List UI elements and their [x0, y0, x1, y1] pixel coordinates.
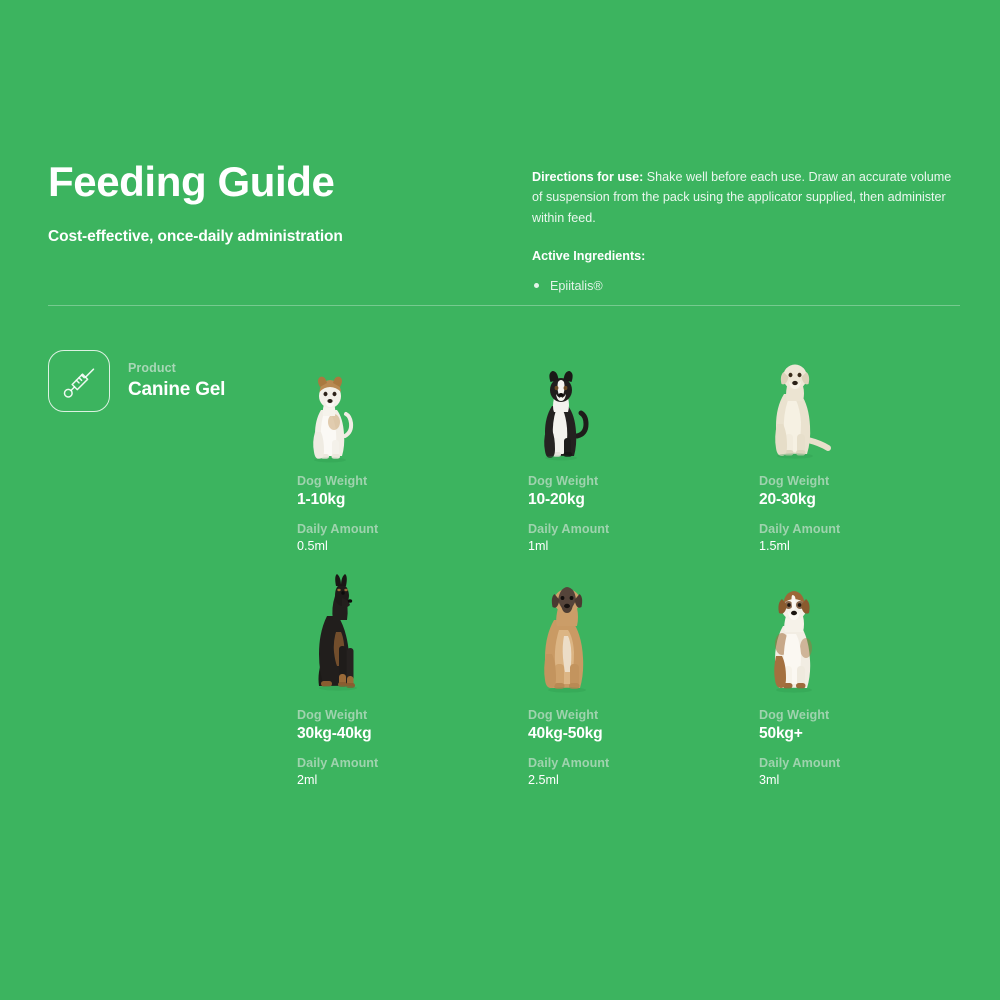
- dog-image-border-collie: [528, 350, 759, 466]
- dog-weight-label: Dog Weight: [528, 708, 759, 722]
- daily-amount-value: 3ml: [759, 773, 990, 787]
- product-label: Product: [128, 361, 225, 375]
- dog-weight-value: 1-10kg: [297, 491, 528, 509]
- dog-image-jack-russell-terrier: [297, 350, 528, 466]
- list-item: Epiitalis®: [532, 277, 952, 296]
- daily-amount-label: Daily Amount: [528, 522, 759, 536]
- dosage-cell: Dog Weight 40kg-50kg Daily Amount 2.5ml: [528, 570, 759, 787]
- dog-image-mastiff: [528, 570, 759, 700]
- page-title: Feeding Guide: [48, 160, 488, 204]
- page-subtitle: Cost-effective, once-daily administratio…: [48, 228, 488, 246]
- syringe-applicator-icon: [48, 350, 110, 412]
- bullet-icon: [534, 283, 539, 288]
- daily-amount-value: 2ml: [297, 773, 528, 787]
- dog-image-yellow-labrador: [759, 350, 990, 466]
- dog-weight-label: Dog Weight: [297, 708, 528, 722]
- dog-weight-value: 10-20kg: [528, 491, 759, 509]
- daily-amount-value: 0.5ml: [297, 539, 528, 553]
- dosage-info: Dog Weight 30kg-40kg Daily Amount 2ml: [297, 708, 528, 787]
- daily-amount-value: 1.5ml: [759, 539, 990, 553]
- product-name: Canine Gel: [128, 379, 225, 401]
- daily-amount-label: Daily Amount: [297, 756, 528, 770]
- ingredient-name: Epiitalis®: [550, 279, 603, 293]
- dog-weight-label: Dog Weight: [759, 708, 990, 722]
- active-ingredients-label: Active Ingredients:: [532, 249, 952, 263]
- daily-amount-value: 2.5ml: [528, 773, 759, 787]
- daily-amount-label: Daily Amount: [528, 756, 759, 770]
- daily-amount-label: Daily Amount: [759, 522, 990, 536]
- dog-weight-label: Dog Weight: [297, 474, 528, 488]
- daily-amount-value: 1ml: [528, 539, 759, 553]
- daily-amount-label: Daily Amount: [759, 756, 990, 770]
- dosage-row: Dog Weight 1-10kg Daily Amount 0.5ml: [297, 350, 960, 553]
- active-ingredients-list: Epiitalis®: [532, 277, 952, 296]
- dosage-info: Dog Weight 40kg-50kg Daily Amount 2.5ml: [528, 708, 759, 787]
- dosage-cell: Dog Weight 10-20kg Daily Amount 1ml: [528, 350, 759, 553]
- dog-image-st-bernard: [759, 570, 990, 700]
- daily-amount-label: Daily Amount: [297, 522, 528, 536]
- dosage-row: Dog Weight 30kg-40kg Daily Amount 2ml: [297, 570, 960, 787]
- dog-weight-label: Dog Weight: [759, 474, 990, 488]
- directions-label: Directions for use:: [532, 170, 643, 184]
- product-text: Product Canine Gel: [128, 361, 225, 401]
- dog-weight-value: 50kg+: [759, 725, 990, 743]
- feeding-guide-page: Feeding Guide Cost-effective, once-daily…: [0, 0, 1000, 1000]
- section-divider: [48, 305, 960, 306]
- directions-for-use: Directions for use: Shake well before ea…: [532, 167, 952, 228]
- dosage-cell: Dog Weight 30kg-40kg Daily Amount 2ml: [297, 570, 528, 787]
- dog-weight-value: 30kg-40kg: [297, 725, 528, 743]
- header-right: Directions for use: Shake well before ea…: [532, 167, 952, 296]
- dosage-info: Dog Weight 10-20kg Daily Amount 1ml: [528, 474, 759, 553]
- product-block: Product Canine Gel: [48, 350, 225, 412]
- dosage-info: Dog Weight 50kg+ Daily Amount 3ml: [759, 708, 990, 787]
- dosage-grid: Dog Weight 1-10kg Daily Amount 0.5ml: [297, 350, 960, 787]
- dosage-cell: Dog Weight 20-30kg Daily Amount 1.5ml: [759, 350, 990, 553]
- dosage-info: Dog Weight 20-30kg Daily Amount 1.5ml: [759, 474, 990, 553]
- dog-image-doberman: [297, 570, 528, 700]
- dog-weight-value: 40kg-50kg: [528, 725, 759, 743]
- dosage-info: Dog Weight 1-10kg Daily Amount 0.5ml: [297, 474, 528, 553]
- dog-weight-value: 20-30kg: [759, 491, 990, 509]
- header-left: Feeding Guide Cost-effective, once-daily…: [48, 160, 488, 246]
- dosage-cell: Dog Weight 50kg+ Daily Amount 3ml: [759, 570, 990, 787]
- dog-weight-label: Dog Weight: [528, 474, 759, 488]
- dosage-cell: Dog Weight 1-10kg Daily Amount 0.5ml: [297, 350, 528, 553]
